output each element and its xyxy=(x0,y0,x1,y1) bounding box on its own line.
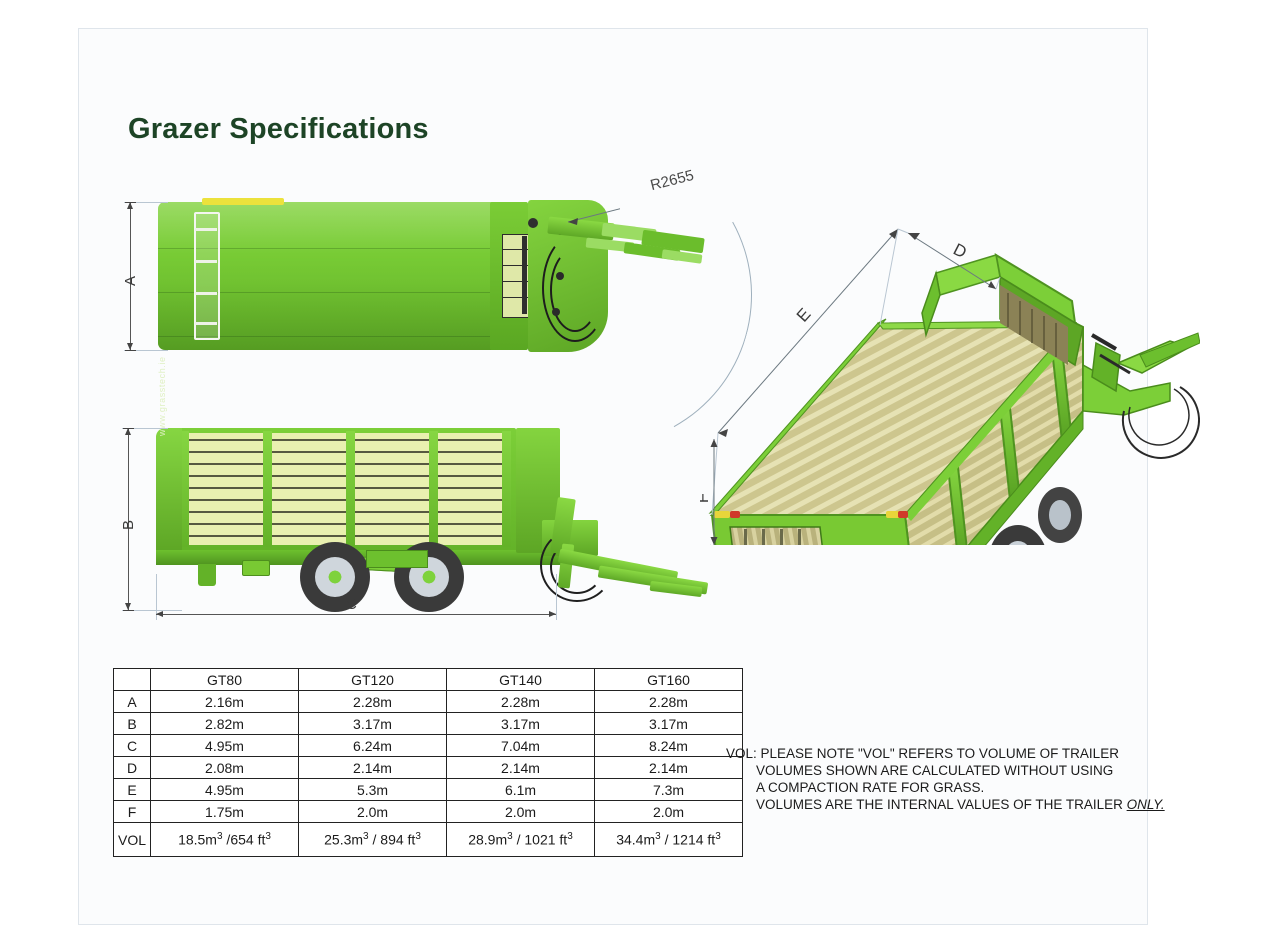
cell-b-gt140: 3.17m xyxy=(447,713,595,735)
arrow-right-icon xyxy=(549,611,556,617)
cell-c-gt140: 7.04m xyxy=(447,735,595,757)
vol-imperial-sup: 3 xyxy=(715,831,721,842)
dimension-label-e: E xyxy=(793,305,815,326)
row-label-c: C xyxy=(114,735,151,757)
vol-separator: / xyxy=(369,832,381,848)
wheel-front xyxy=(300,542,370,612)
cell-c-gt120: 6.24m xyxy=(299,735,447,757)
column-header-gt160: GT160 xyxy=(595,669,743,691)
arrow-up-icon xyxy=(127,202,133,209)
dimension-line-c xyxy=(156,614,556,615)
vol-imperial: 1021 ft xyxy=(524,832,567,848)
cell-b-gt120: 3.17m xyxy=(299,713,447,735)
cell-vol-gt80: 18.5m3 /654 ft3 xyxy=(151,823,299,857)
note-line-4-text: VOLUMES ARE THE INTERNAL VALUES OF THE T… xyxy=(756,797,1127,812)
column-header-gt140: GT140 xyxy=(447,669,595,691)
table-row-volume: VOL 18.5m3 /654 ft3 25.3m3 / 894 ft3 28.… xyxy=(114,823,743,857)
cell-f-gt160: 2.0m xyxy=(595,801,743,823)
cell-b-gt160: 3.17m xyxy=(595,713,743,735)
brand-url-decal: www.grasstech.ie xyxy=(157,326,167,436)
row-label-d: D xyxy=(114,757,151,779)
load-area-panel xyxy=(178,433,508,545)
dimension-tick xyxy=(123,610,134,611)
parking-leg xyxy=(198,564,216,586)
table-corner-cell xyxy=(114,669,151,691)
note-emphasis: ONLY. xyxy=(1127,797,1165,812)
dimension-label-b: B xyxy=(120,520,137,530)
row-label-b: B xyxy=(114,713,151,735)
table-row: D 2.08m 2.14m 2.14m 2.14m xyxy=(114,757,743,779)
vol-metric: 18.5m xyxy=(178,832,217,848)
dimension-label-f: F xyxy=(700,493,712,503)
note-line-2: VOLUMES SHOWN ARE CALCULATED WITHOUT USI… xyxy=(726,762,1165,779)
vol-imperial: 894 ft xyxy=(380,832,415,848)
dimension-tick xyxy=(123,428,134,429)
vol-separator: / xyxy=(513,832,525,848)
cell-vol-gt120: 25.3m3 / 894 ft3 xyxy=(299,823,447,857)
row-label-f: F xyxy=(114,801,151,823)
vol-imperial-sup: 3 xyxy=(567,831,573,842)
note-line-1: VOL: PLEASE NOTE "VOL" REFERS TO VOLUME … xyxy=(726,745,1165,762)
table-row: E 4.95m 5.3m 6.1m 7.3m xyxy=(114,779,743,801)
cell-c-gt160: 8.24m xyxy=(595,735,743,757)
dimension-tick xyxy=(125,202,136,203)
specifications-table: GT80 GT120 GT140 GT160 A 2.16m 2.28m 2.2… xyxy=(113,668,743,857)
side-elevation-drawing: www.grasstech.ie B C xyxy=(150,424,710,624)
vol-imperial-sup: 3 xyxy=(415,831,421,842)
note-line-3: A COMPACTION RATE FOR GRASS. xyxy=(726,779,1165,796)
cell-d-gt160: 2.14m xyxy=(595,757,743,779)
table-row: A 2.16m 2.28m 2.28m 2.28m xyxy=(114,691,743,713)
column-header-gt80: GT80 xyxy=(151,669,299,691)
cell-f-gt120: 2.0m xyxy=(299,801,447,823)
access-ladder xyxy=(194,212,220,340)
cell-e-gt80: 4.95m xyxy=(151,779,299,801)
cell-b-gt80: 2.82m xyxy=(151,713,299,735)
note-line-4: VOLUMES ARE THE INTERNAL VALUES OF THE T… xyxy=(726,796,1165,813)
cell-d-gt120: 2.14m xyxy=(299,757,447,779)
dimension-label-d: D xyxy=(950,240,970,263)
page-title: Grazer Specifications xyxy=(128,113,429,146)
column-header-gt120: GT120 xyxy=(299,669,447,691)
cell-f-gt140: 2.0m xyxy=(447,801,595,823)
cell-c-gt80: 4.95m xyxy=(151,735,299,757)
yellow-marker-strip xyxy=(202,198,284,205)
toolbox xyxy=(242,560,270,576)
arrow-down-icon xyxy=(127,343,133,350)
extension-line xyxy=(556,574,557,620)
cell-e-gt160: 7.3m xyxy=(595,779,743,801)
cell-vol-gt140: 28.9m3 / 1021 ft3 xyxy=(447,823,595,857)
row-label-a: A xyxy=(114,691,151,713)
cell-a-gt160: 2.28m xyxy=(595,691,743,713)
rim xyxy=(315,557,355,597)
vol-imperial: 654 ft xyxy=(230,832,265,848)
volume-notes: VOL: PLEASE NOTE "VOL" REFERS TO VOLUME … xyxy=(726,745,1165,813)
arrow-up-icon xyxy=(125,428,131,435)
vol-imperial: 1214 ft xyxy=(672,832,715,848)
isometric-trailer-svg: E D F xyxy=(700,215,1200,545)
table-row: C 4.95m 6.24m 7.04m 8.24m xyxy=(114,735,743,757)
cell-vol-gt160: 34.4m3 / 1214 ft3 xyxy=(595,823,743,857)
dimension-tick xyxy=(125,350,136,351)
cell-e-gt120: 5.3m xyxy=(299,779,447,801)
table-row: F 1.75m 2.0m 2.0m 2.0m xyxy=(114,801,743,823)
isometric-view-drawing: E D F xyxy=(700,215,1200,545)
cell-f-gt80: 1.75m xyxy=(151,801,299,823)
arrow-left-icon xyxy=(156,611,163,617)
arrow-down-icon xyxy=(125,603,131,610)
vol-metric: 25.3m xyxy=(324,832,363,848)
side-post xyxy=(263,431,272,547)
vol-metric: 34.4m xyxy=(616,832,655,848)
table-header-row: GT80 GT120 GT140 GT160 xyxy=(114,669,743,691)
front-wall-panel xyxy=(156,428,182,553)
table-row: B 2.82m 3.17m 3.17m 3.17m xyxy=(114,713,743,735)
row-label-e: E xyxy=(114,779,151,801)
side-post xyxy=(502,431,511,547)
cell-a-gt140: 2.28m xyxy=(447,691,595,713)
side-post xyxy=(429,431,438,547)
dimension-label-a: A xyxy=(122,276,139,286)
cell-e-gt140: 6.1m xyxy=(447,779,595,801)
cell-a-gt120: 2.28m xyxy=(299,691,447,713)
cell-d-gt80: 2.08m xyxy=(151,757,299,779)
cell-d-gt140: 2.14m xyxy=(447,757,595,779)
row-label-vol: VOL xyxy=(114,823,151,857)
dimension-label-c: C xyxy=(346,596,357,613)
vol-imperial-sup: 3 xyxy=(265,831,271,842)
axle-mount xyxy=(366,550,428,568)
front-top-view-drawing: A R2655 xyxy=(150,196,620,361)
vol-metric: 28.9m xyxy=(468,832,507,848)
vol-separator: / xyxy=(661,832,673,848)
cell-a-gt80: 2.16m xyxy=(151,691,299,713)
side-post xyxy=(346,431,355,547)
